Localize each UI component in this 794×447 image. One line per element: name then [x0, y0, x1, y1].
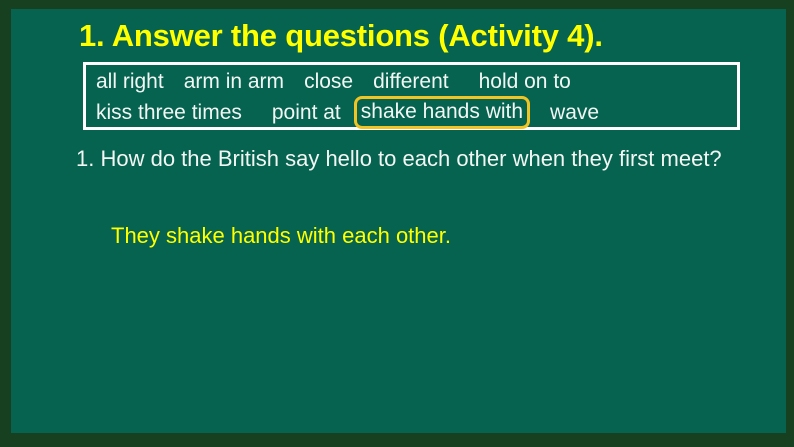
page-title: 1. Answer the questions (Activity 4).	[79, 19, 603, 53]
word-chip-wave[interactable]: wave	[550, 97, 599, 128]
word-chip-hold-on-to[interactable]: hold on to	[479, 66, 571, 97]
word-bank-row-2: kiss three times point at shake hands wi…	[86, 97, 737, 128]
question-text: 1. How do the British say hello to each …	[76, 142, 756, 175]
word-chip-all-right[interactable]: all right	[96, 66, 164, 97]
answer-text: They shake hands with each other.	[111, 221, 451, 251]
word-chip-point-at[interactable]: point at	[272, 97, 341, 128]
word-chip-kiss-three-times[interactable]: kiss three times	[96, 97, 242, 128]
word-chip-arm-in-arm[interactable]: arm in arm	[184, 66, 284, 97]
word-chip-shake-hands-with-highlighted[interactable]: shake hands with	[354, 96, 530, 129]
word-bank-box: all right arm in arm close different hol…	[83, 62, 740, 130]
slide-board: 1. Answer the questions (Activity 4). al…	[11, 9, 786, 433]
word-chip-different[interactable]: different	[373, 66, 449, 97]
slide-frame: 1. Answer the questions (Activity 4). al…	[0, 0, 794, 447]
word-bank-row-1: all right arm in arm close different hol…	[86, 66, 737, 97]
word-chip-close[interactable]: close	[304, 66, 353, 97]
